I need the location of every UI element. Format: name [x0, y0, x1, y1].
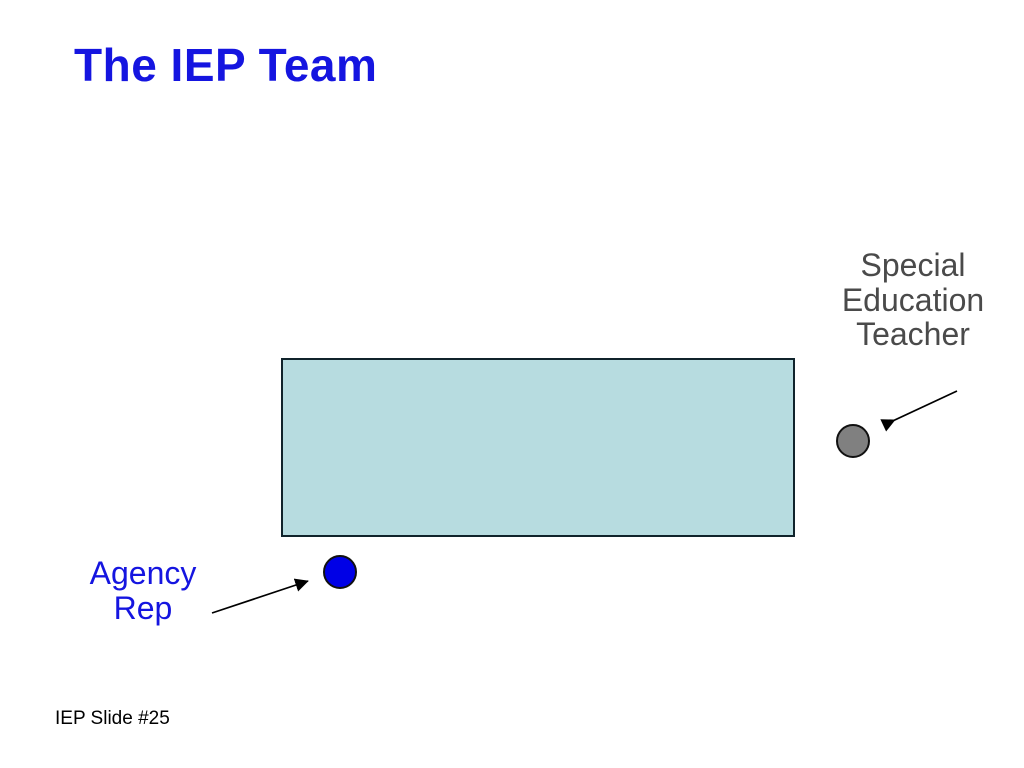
arrow-icon-to-agency-rep	[205, 570, 325, 625]
member-dot-special-education-teacher	[836, 424, 870, 458]
label-agency-rep: Agency Rep	[63, 556, 223, 625]
slide-canvas: The IEP Team Special Education Teacher A…	[0, 0, 1024, 768]
arrow-icon-to-special-education-teacher	[860, 380, 970, 440]
slide-footer-text: IEP Slide #25	[55, 708, 170, 730]
page-title: The IEP Team	[74, 40, 377, 91]
member-dot-agency-rep	[323, 555, 357, 589]
iep-table-shape	[281, 358, 795, 537]
label-special-education-teacher: Special Education Teacher	[803, 248, 1023, 352]
